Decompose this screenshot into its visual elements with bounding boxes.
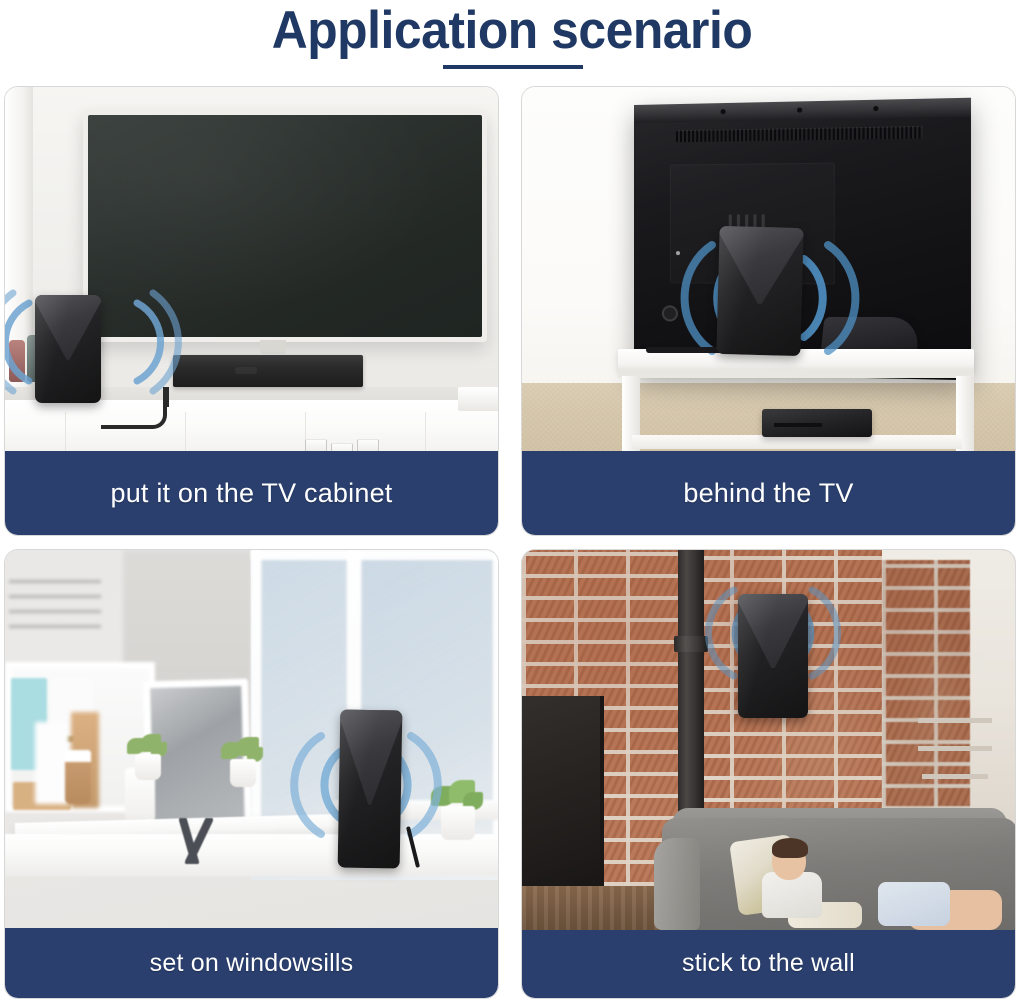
table-front-edge <box>618 369 974 378</box>
scenario-card-behind-tv[interactable]: behind the TV <box>521 86 1016 536</box>
caption-bar-tv-cabinet: put it on the TV cabinet <box>5 451 498 535</box>
kitchen-brick-wall <box>882 560 970 810</box>
kitchen-shelf <box>922 774 988 779</box>
scenario-photo-wall <box>522 550 1015 930</box>
cabinet-seam <box>425 412 426 454</box>
antenna-cable-segment <box>165 387 169 407</box>
application-scenario-page: Application scenario <box>0 0 1024 1003</box>
antenna-cable <box>101 387 167 429</box>
tv-vent-grille <box>676 126 923 142</box>
firewood-stack <box>522 886 672 930</box>
scenario-photo-tv-cabinet <box>5 87 498 454</box>
tv-antenna-device <box>35 295 101 403</box>
potted-plant <box>125 738 169 790</box>
screw-hole <box>873 106 878 111</box>
scenario-photo-behind-tv <box>522 87 1015 454</box>
wall-tv <box>522 696 604 888</box>
window-pane <box>261 558 347 826</box>
caption-bar-behind-tv: behind the TV <box>522 451 1015 535</box>
scenario-card-tv-cabinet[interactable]: put it on the TV cabinet <box>4 86 499 536</box>
caption-text: behind the TV <box>683 477 853 509</box>
tv-antenna-device <box>338 709 403 868</box>
caption-bar-wall: stick to the wall <box>522 928 1015 998</box>
caption-text: set on windowsills <box>150 947 354 979</box>
wall-mounted-tv <box>83 110 487 342</box>
potted-plant <box>429 786 487 854</box>
scenario-grid: put it on the TV cabinet <box>4 86 1020 1000</box>
window-frame <box>251 550 261 850</box>
light-switch <box>974 654 982 676</box>
windowsill <box>5 834 498 876</box>
scenario-card-windowsill[interactable]: set on windowsills <box>4 549 499 999</box>
page-title-block: Application scenario <box>0 0 1024 84</box>
decor-bottle <box>9 340 25 382</box>
tv-rear-dial <box>662 305 678 321</box>
cabinet-seam <box>185 412 186 454</box>
tv-wall-mount <box>260 340 286 354</box>
tablet-stand <box>175 818 223 864</box>
potted-plant <box>219 742 265 798</box>
tv-antenna-device <box>738 594 808 718</box>
kitchen-shelf <box>918 746 992 751</box>
title-underline <box>443 65 583 69</box>
caption-text: put it on the TV cabinet <box>111 477 393 509</box>
kitchen-shelf <box>918 718 992 723</box>
table-lower-shelf <box>632 435 962 449</box>
stacked-plates <box>458 387 498 411</box>
stove-pipe-band <box>674 636 708 652</box>
adult-shorts <box>878 882 950 926</box>
document-rack <box>9 568 101 630</box>
set-top-box <box>762 409 872 437</box>
cabinet-seam <box>65 412 66 454</box>
coffee-cup <box>65 750 91 804</box>
window-frame <box>251 550 498 560</box>
scenario-card-wall[interactable]: stick to the wall <box>521 549 1016 999</box>
child-hair <box>772 838 808 858</box>
tv-indicator-led <box>676 251 680 255</box>
caption-text: stick to the wall <box>682 947 855 979</box>
sofa-armrest <box>654 838 700 930</box>
magazine-file <box>35 722 69 804</box>
tv-screen <box>88 115 482 337</box>
tv-antenna-device <box>716 226 803 356</box>
scenario-photo-windowsill <box>5 550 498 930</box>
soundbar <box>173 355 363 387</box>
page-title: Application scenario <box>31 0 994 60</box>
caption-bar-windowsill: set on windowsills <box>5 928 498 998</box>
